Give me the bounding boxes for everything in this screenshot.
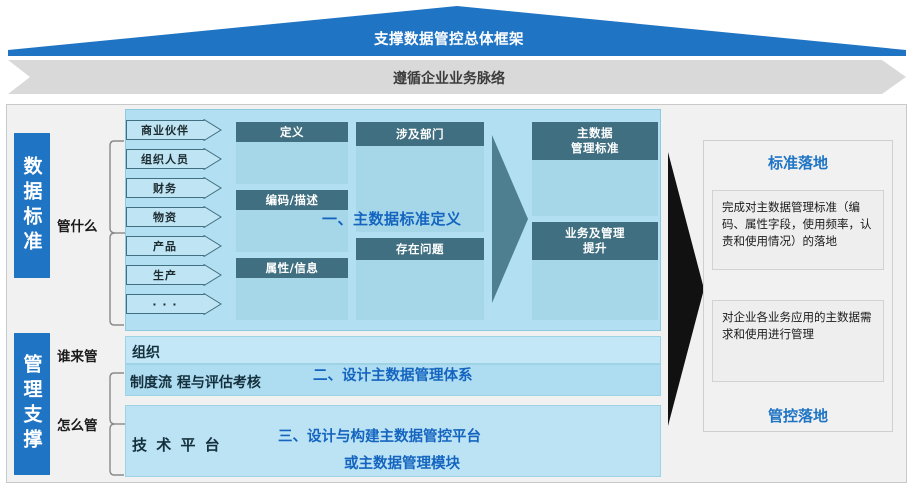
lower-row-organization-label: 组织 [132,342,160,362]
scope-block-1-header[interactable]: 存在问题 [356,238,484,260]
brace-how [108,372,126,480]
section-three-title-line2: 或主数据管理模块 [344,452,460,473]
sidebar-tab-data-standard-label: 数据标准 [19,156,46,256]
landing-panel-title-bottom: 管控落地 [703,405,893,426]
definition-block-1-label: 编码/描述 [266,193,319,208]
outcome-block-1-label-line2: 提升 [583,241,607,256]
source-tag-3-label: 物资 [126,206,204,228]
landing-panel-title-top: 标准落地 [703,152,893,173]
landing-panel-text-bottom: 对企业各业务应用的主数据需求和使用进行管理 [712,300,884,382]
source-tag-0-label: 商业伙伴 [126,119,204,141]
section-three-title-line1: 三、设计与构建主数据管控平台 [278,425,481,446]
chevron-banner-label: 遵循企业业务脉络 [0,68,898,88]
outcome-block-0-body [532,160,658,216]
source-tag-6-label: · · · [126,293,204,315]
outcome-block-1-body [532,260,658,320]
landing-panel-text-top: 完成对主数据管理标准（编码、属性字段，使用频率，认责和使用情况）的落地 [712,190,884,270]
scope-block-0-header[interactable]: 涉及部门 [356,122,484,146]
outcome-block-0-label-line2: 管理标准 [571,141,619,156]
outcome-block-1-label-line1: 业务及管理 [565,226,625,241]
landing-panel [703,140,893,432]
outcome-block-0-label-line1: 主数据 [577,126,613,141]
source-tag-2[interactable]: 财务 [126,177,222,199]
section-two-title: 二、设计主数据管理体系 [313,364,473,385]
definition-block-0-header[interactable]: 定义 [236,122,348,142]
lower-row-platform-label: 技 术 平 台 [132,434,222,455]
outcome-block-0-header[interactable]: 主数据 管理标准 [532,122,658,160]
label-what-to-manage: 管什么 [57,215,98,235]
definition-block-2-header[interactable]: 属性/信息 [236,258,348,278]
scope-block-1-label: 存在问题 [396,242,444,257]
definition-block-0-body [236,142,348,184]
source-tag-4-label: 产品 [126,235,204,257]
label-who-manages: 谁来管 [57,345,98,365]
source-tag-6[interactable]: · · · [126,293,222,315]
outcome-block-1-header[interactable]: 业务及管理 提升 [532,222,658,260]
lower-row-organization[interactable] [125,336,661,364]
brace-what [108,140,126,330]
source-tag-1[interactable]: 组织人员 [126,148,222,170]
sidebar-tab-data-standard[interactable]: 数据标准 [14,133,50,278]
definition-block-2-body [236,278,348,320]
definition-block-1-header[interactable]: 编码/描述 [236,190,348,210]
triangle-banner-label: 支撑数据管控总体框架 [0,28,898,49]
source-tag-3[interactable]: 物资 [126,206,222,228]
scope-block-1-body [356,260,484,320]
definition-block-2-label: 属性/信息 [266,261,319,276]
source-tag-5-label: 生产 [126,264,204,286]
teal-chevron-arrow-icon [490,135,530,303]
source-tag-4[interactable]: 产品 [126,235,222,257]
source-tag-2-label: 财务 [126,177,204,199]
source-tag-5[interactable]: 生产 [126,264,222,286]
sidebar-tab-management-support-label: 管理支撑 [19,354,46,454]
source-tag-1-label: 组织人员 [126,148,204,170]
label-how-to-manage: 怎么管 [57,414,98,434]
lower-row-process-label: 制度流 程与评估考核 [130,372,261,392]
definition-block-0-label: 定义 [280,125,304,140]
slide-canvas: 支撑数据管控总体框架 遵循企业业务脉络 数据标准 管理支撑 管什么 谁来管 怎么… [0,0,914,491]
sidebar-tab-management-support[interactable]: 管理支撑 [14,333,50,475]
black-chevron-arrow-icon [664,150,706,428]
source-tag-0[interactable]: 商业伙伴 [126,119,222,141]
section-one-title: 一、主数据标准定义 [322,208,462,229]
scope-block-0-label: 涉及部门 [396,127,444,142]
